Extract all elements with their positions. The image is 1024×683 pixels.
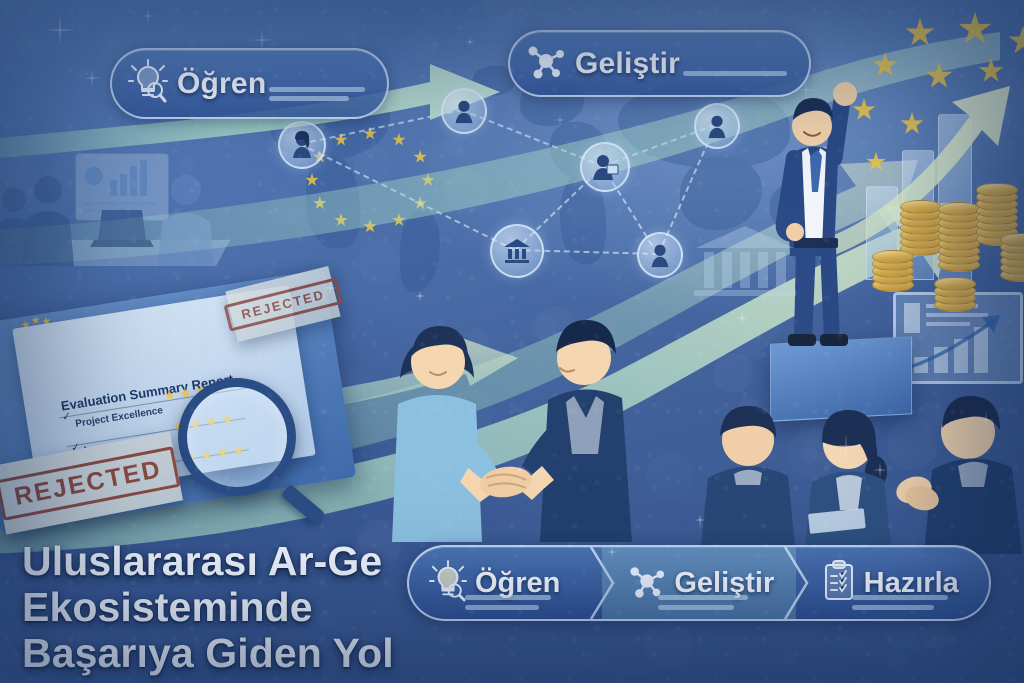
- magnifying-glass-icon: [178, 378, 296, 496]
- process-step-ogren-underlines: [465, 595, 551, 610]
- poster-canvas: PROJECT ESR Evaluation Summary Report ✓ …: [0, 0, 1024, 683]
- lightbulb-magnifier-icon: [128, 59, 168, 108]
- badge-ogren-top-underlines: [269, 87, 365, 101]
- process-step-ogren[interactable]: Öğren: [409, 547, 602, 619]
- handshake-scene: [388, 300, 668, 542]
- institution-building-illustration: [690, 222, 800, 298]
- title-line-2: Ekosisteminde: [22, 585, 394, 631]
- molecule-network-icon: [526, 41, 566, 86]
- check-icon-0: ✓: [61, 409, 72, 423]
- node-man-right[interactable]: [694, 103, 740, 149]
- badge-gelistir-top[interactable]: Geliştir: [508, 30, 811, 97]
- team-discussion-scene: [700, 394, 1024, 554]
- winner-person-illustration: [768, 62, 898, 352]
- badge-gelistir-top-label: Geliştir: [575, 47, 680, 81]
- node-man-top[interactable]: [441, 88, 487, 134]
- dashboard-panel: [893, 292, 1023, 384]
- clipboard-checklist-icon: [822, 560, 856, 607]
- title-line-3: Başarıya Giden Yol: [22, 631, 394, 677]
- node-woman-left[interactable]: [278, 121, 326, 169]
- badge-gelistir-top-underlines: [683, 71, 787, 76]
- process-step-gelistir[interactable]: Geliştir: [602, 547, 795, 619]
- badge-ogren-top-label: Öğren: [177, 67, 266, 101]
- process-step-hazirla[interactable]: Hazırla: [796, 547, 989, 619]
- badge-ogren-top[interactable]: Öğren: [110, 48, 389, 119]
- process-bar[interactable]: Öğren Geliştir: [407, 545, 991, 621]
- lightbulb-magnifier-icon: [429, 559, 467, 608]
- node-man-lower[interactable]: [637, 232, 683, 278]
- node-man-laptop[interactable]: [580, 142, 630, 192]
- process-step-hazirla-underlines: [852, 595, 948, 610]
- esr-document-assembly: PROJECT ESR Evaluation Summary Report ✓ …: [0, 282, 382, 532]
- process-step-gelistir-underlines: [658, 595, 748, 610]
- node-institution[interactable]: [490, 224, 544, 278]
- title-line-1: Uluslararası Ar-Ge: [22, 539, 394, 585]
- page-title: Uluslararası Ar-Ge Ekosisteminde Başarıy…: [22, 539, 394, 677]
